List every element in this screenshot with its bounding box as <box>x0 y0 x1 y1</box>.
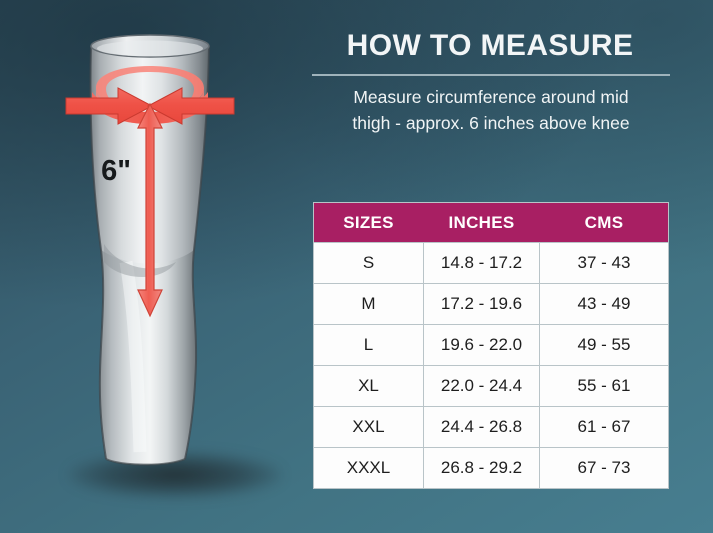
cell-cms: 49 - 55 <box>540 324 668 365</box>
leg-illustration: 6" <box>0 0 300 533</box>
table-head: SIZES INCHES CMS <box>314 203 668 242</box>
cell-cms: 55 - 61 <box>540 365 668 406</box>
table-row: XXL24.4 - 26.861 - 67 <box>314 406 668 447</box>
cell-size: XL <box>314 365 424 406</box>
cell-size: XXXL <box>314 447 424 488</box>
table-row: XL22.0 - 24.455 - 61 <box>314 365 668 406</box>
info-panel: HOW TO MEASURE Measure circumference aro… <box>305 0 713 533</box>
measurement-label: 6" <box>101 155 131 187</box>
table-row: S14.8 - 17.237 - 43 <box>314 242 668 283</box>
cell-size: M <box>314 283 424 324</box>
table-row: L19.6 - 22.049 - 55 <box>314 324 668 365</box>
cell-size: XXL <box>314 406 424 447</box>
subtitle-line-1: Measure circumference around mid <box>305 84 677 110</box>
size-chart-page: 6" HOW TO MEASURE Measure circumference … <box>0 0 713 533</box>
cell-cms: 67 - 73 <box>540 447 668 488</box>
page-title: HOW TO MEASURE <box>305 29 675 63</box>
cell-inches: 14.8 - 17.2 <box>424 242 540 283</box>
cell-size: S <box>314 242 424 283</box>
size-chart-table: SIZES INCHES CMS S14.8 - 17.237 - 43M17.… <box>314 203 668 488</box>
column-header-cms: CMS <box>540 203 668 242</box>
cell-cms: 37 - 43 <box>540 242 668 283</box>
leg-diagram-svg: 6" <box>0 0 300 533</box>
thigh-top-rim <box>91 35 209 57</box>
column-header-sizes: SIZES <box>314 203 424 242</box>
cell-size: L <box>314 324 424 365</box>
table-row: XXXL26.8 - 29.267 - 73 <box>314 447 668 488</box>
subtitle-line-2: thigh - approx. 6 inches above knee <box>305 110 677 136</box>
column-header-inches: INCHES <box>424 203 540 242</box>
cell-inches: 17.2 - 19.6 <box>424 283 540 324</box>
cell-cms: 61 - 67 <box>540 406 668 447</box>
cell-inches: 24.4 - 26.8 <box>424 406 540 447</box>
cell-cms: 43 - 49 <box>540 283 668 324</box>
cell-inches: 26.8 - 29.2 <box>424 447 540 488</box>
table-row: M17.2 - 19.643 - 49 <box>314 283 668 324</box>
cell-inches: 22.0 - 24.4 <box>424 365 540 406</box>
table-body: S14.8 - 17.237 - 43M17.2 - 19.643 - 49L1… <box>314 242 668 488</box>
title-divider <box>312 74 670 76</box>
cell-inches: 19.6 - 22.0 <box>424 324 540 365</box>
table-header-row: SIZES INCHES CMS <box>314 203 668 242</box>
page-subtitle: Measure circumference around mid thigh -… <box>305 84 677 136</box>
